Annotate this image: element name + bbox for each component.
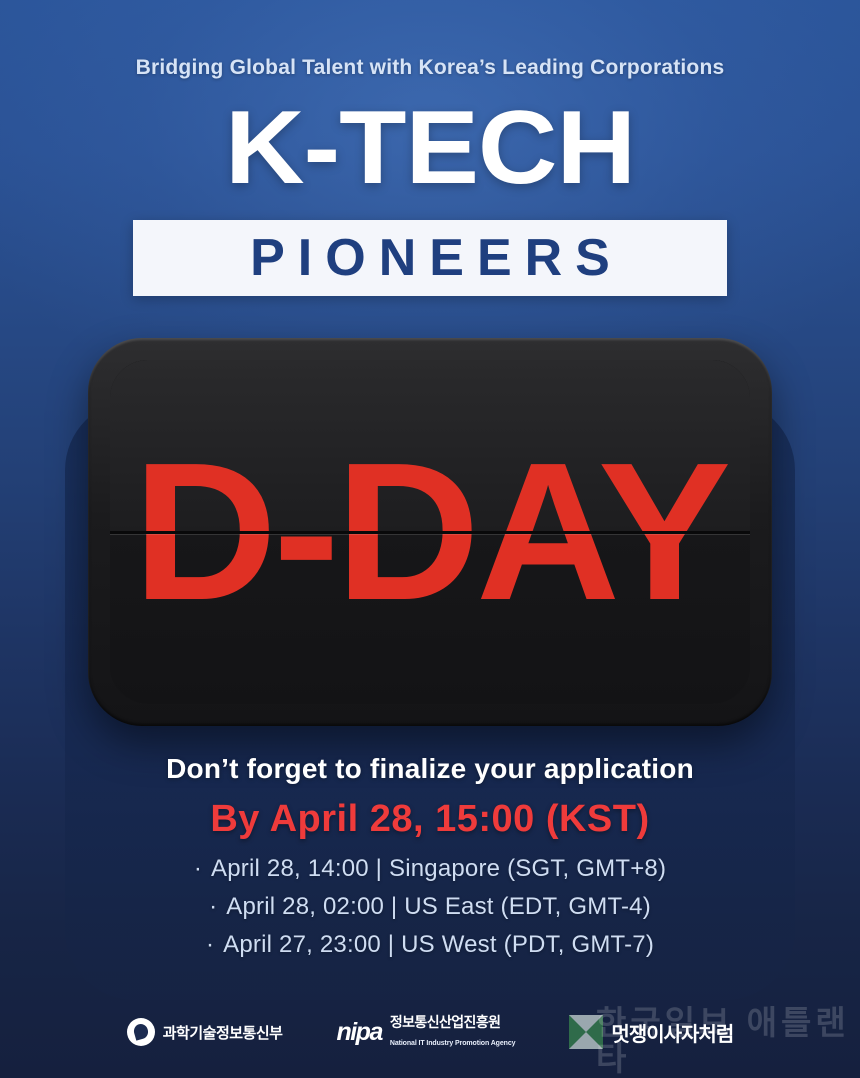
logo-ministry-of-science-ict: 과학기술정보통신부 [127,1018,283,1046]
bullet-icon: · [194,855,202,883]
taegeuk-icon [127,1018,155,1046]
flip-clock-face: D-DAY D-DAY [110,360,750,704]
bullet-icon: · [209,893,217,921]
nipa-name-english: National IT Industry Promotion Agency [390,1040,516,1047]
poster-root: Bridging Global Talent with Korea’s Lead… [0,0,860,1078]
timezone-text: April 28, 02:00 | US East (EDT, GMT-4) [226,893,651,920]
list-item: ·April 28, 02:00 | US East (EDT, GMT-4) [0,893,860,921]
bullet-icon: · [206,931,214,959]
list-item: ·April 28, 14:00 | Singapore (SGT, GMT+8… [0,855,860,883]
timezone-list: ·April 28, 14:00 | Singapore (SGT, GMT+8… [0,855,860,969]
countdown-label-bottom: D-DAY [110,532,750,704]
logo-likelion: 멋쟁이사자처럼 [569,1015,733,1049]
nipa-wordmark: nipa [336,1018,381,1047]
poster-content: Bridging Global Talent with Korea’s Lead… [0,0,860,1078]
flip-card-bottom: D-DAY [110,532,750,704]
flip-seam-line [110,531,750,534]
list-item: ·April 27, 23:00 | US West (PDT, GMT-7) [0,931,860,959]
tagline: Bridging Global Talent with Korea’s Lead… [0,56,860,80]
cta-message: Don’t forget to finalize your applicatio… [0,753,860,785]
timezone-text: April 27, 23:00 | US West (PDT, GMT-7) [223,931,654,958]
nipa-name-korean: 정보통신산업진흥원 [390,1014,501,1030]
logo-nipa: nipa 정보통신산업진흥원 National IT Industry Prom… [336,1014,515,1050]
cta-deadline: By April 28, 15:00 (KST) [0,798,860,841]
flip-card-top: D-DAY [110,360,750,532]
countdown-label-top: D-DAY [110,360,750,532]
likelion-name: 멋쟁이사자처럼 [611,1018,733,1047]
page-title: K-TECH [0,96,860,200]
timezone-text: April 28, 14:00 | Singapore (SGT, GMT+8) [211,855,666,882]
flip-clock-display: D-DAY D-DAY [88,338,772,726]
title-banner: PIONEERS [133,220,727,296]
ministry-name: 과학기술정보통신부 [163,1022,283,1043]
likelion-mark-icon [569,1015,603,1049]
nipa-name-block: 정보통신산업진흥원 National IT Industry Promotion… [390,1014,516,1050]
title-banner-label: PIONEERS [237,228,623,288]
footer-logos: 과학기술정보통신부 nipa 정보통신산업진흥원 National IT Ind… [0,1004,860,1060]
